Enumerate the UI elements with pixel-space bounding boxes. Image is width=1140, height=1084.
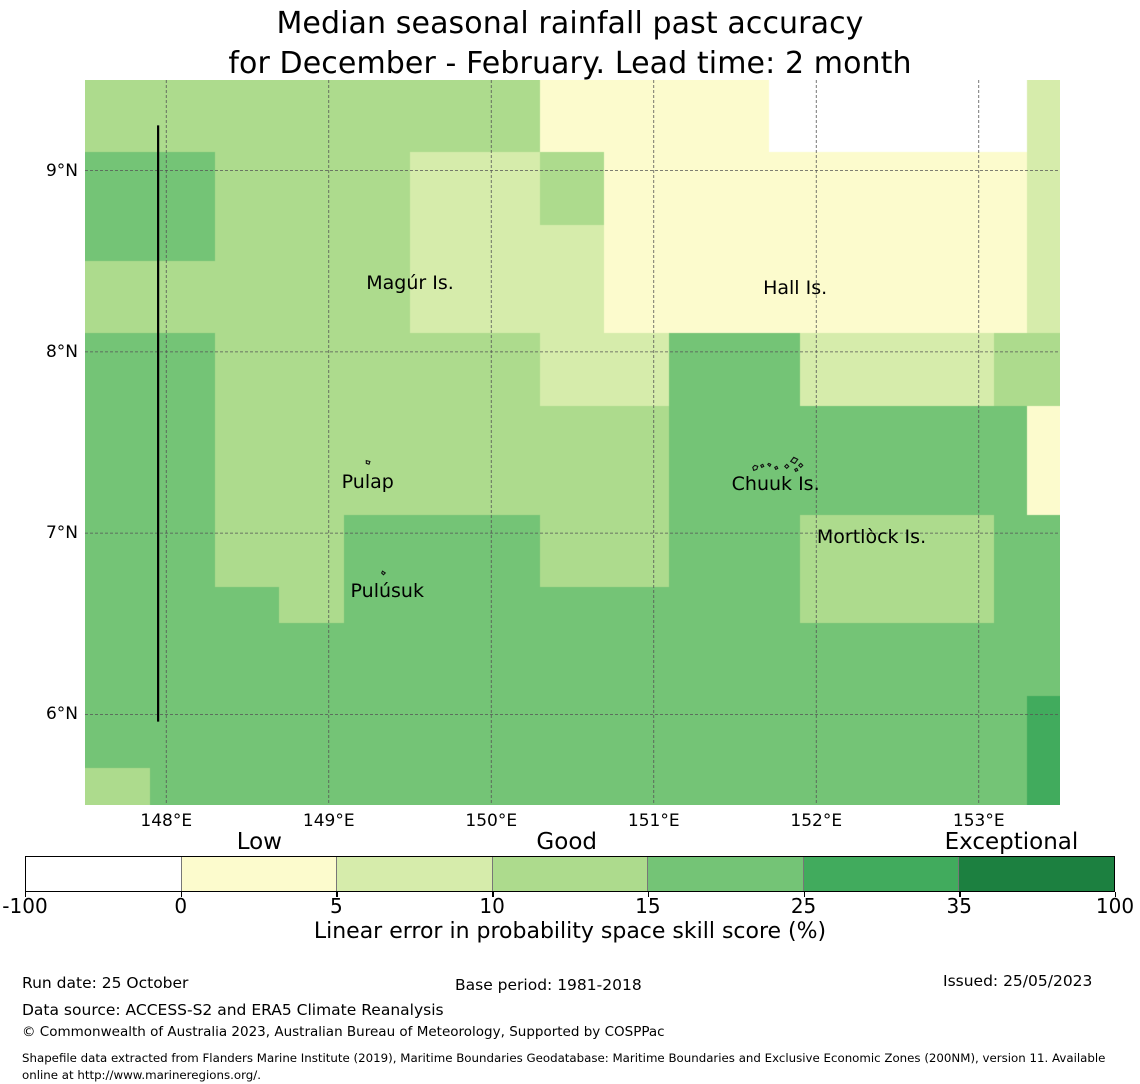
map-label-hall-is: Hall Is. bbox=[763, 277, 827, 299]
map-label-pulap: Pulap bbox=[342, 471, 394, 493]
page-title: Median seasonal rainfall past accuracy f… bbox=[0, 4, 1140, 84]
colorbar-category-exceptional: Exceptional bbox=[945, 829, 1079, 855]
colorbar-band-4 bbox=[647, 857, 803, 891]
colorbar-band-1 bbox=[181, 857, 337, 891]
issued-date: Issued: 25/05/2023 bbox=[943, 972, 1092, 990]
colorbar-tick-mark bbox=[181, 892, 182, 897]
map-label-mortl-ck-is: Mortlòck Is. bbox=[817, 526, 926, 548]
colorbar-tick-label: 25 bbox=[791, 894, 816, 918]
colorbar-band-5 bbox=[803, 857, 959, 891]
colorbar-bands bbox=[25, 856, 1115, 892]
colorbar-tick-mark bbox=[804, 892, 805, 897]
xtick-label: 151°E bbox=[628, 811, 680, 831]
map-label-mag-r-is: Magúr Is. bbox=[366, 272, 454, 294]
colorbar-tick-mark bbox=[492, 892, 493, 897]
xtick-label: 149°E bbox=[303, 811, 355, 831]
xtick-label: 150°E bbox=[465, 811, 517, 831]
xtick-label: 152°E bbox=[790, 811, 842, 831]
colorbar-tick-mark bbox=[25, 892, 26, 897]
colorbar-tick-label: 5 bbox=[330, 894, 343, 918]
map-plot-area: Magúr Is.Hall Is.PulapPulúsukChuuk Is.M… bbox=[85, 80, 1060, 805]
colorbar-category-good: Good bbox=[536, 829, 597, 855]
ytick-label: 7°N bbox=[8, 523, 78, 543]
ytick-label: 8°N bbox=[8, 342, 78, 362]
shapefile-attribution: Shapefile data extracted from Flanders M… bbox=[22, 1050, 1122, 1084]
copyright: © Commonwealth of Australia 2023, Austra… bbox=[22, 1024, 665, 1040]
ytick-label: 6°N bbox=[8, 704, 78, 724]
colorbar-tick-mark bbox=[1115, 892, 1116, 897]
xtick-label: 153°E bbox=[953, 811, 1005, 831]
colorbar-axis-title: Linear error in probability space skill … bbox=[0, 919, 1140, 944]
map-label-pulu-suk: Pulúsuk bbox=[351, 580, 424, 602]
colorbar-tick-label: 10 bbox=[479, 894, 504, 918]
colorbar-band-6 bbox=[958, 857, 1114, 891]
skill-score-heatmap bbox=[85, 80, 1060, 805]
xtick-label: 148°E bbox=[140, 811, 192, 831]
colorbar-tick-mark bbox=[336, 892, 337, 897]
run-date: Run date: 25 October bbox=[22, 974, 188, 992]
colorbar-tick-label: 0 bbox=[174, 894, 187, 918]
colorbar bbox=[25, 856, 1115, 892]
colorbar-band-0 bbox=[26, 857, 181, 891]
colorbar-tick-label: 15 bbox=[635, 894, 660, 918]
colorbar-tick-mark bbox=[648, 892, 649, 897]
base-period: Base period: 1981-2018 bbox=[455, 976, 642, 994]
colorbar-tick-label: -100 bbox=[2, 894, 47, 918]
colorbar-tick-label: 35 bbox=[947, 894, 972, 918]
colorbar-band-2 bbox=[336, 857, 492, 891]
colorbar-category-low: Low bbox=[237, 829, 282, 855]
map-label-chuuk-is: Chuuk Is. bbox=[732, 473, 820, 495]
colorbar-tick-label: 100 bbox=[1096, 894, 1134, 918]
colorbar-tick-mark bbox=[959, 892, 960, 897]
data-source: Data source: ACCESS-S2 and ERA5 Climate … bbox=[22, 1001, 444, 1019]
colorbar-band-3 bbox=[492, 857, 648, 891]
ytick-label: 9°N bbox=[8, 161, 78, 181]
